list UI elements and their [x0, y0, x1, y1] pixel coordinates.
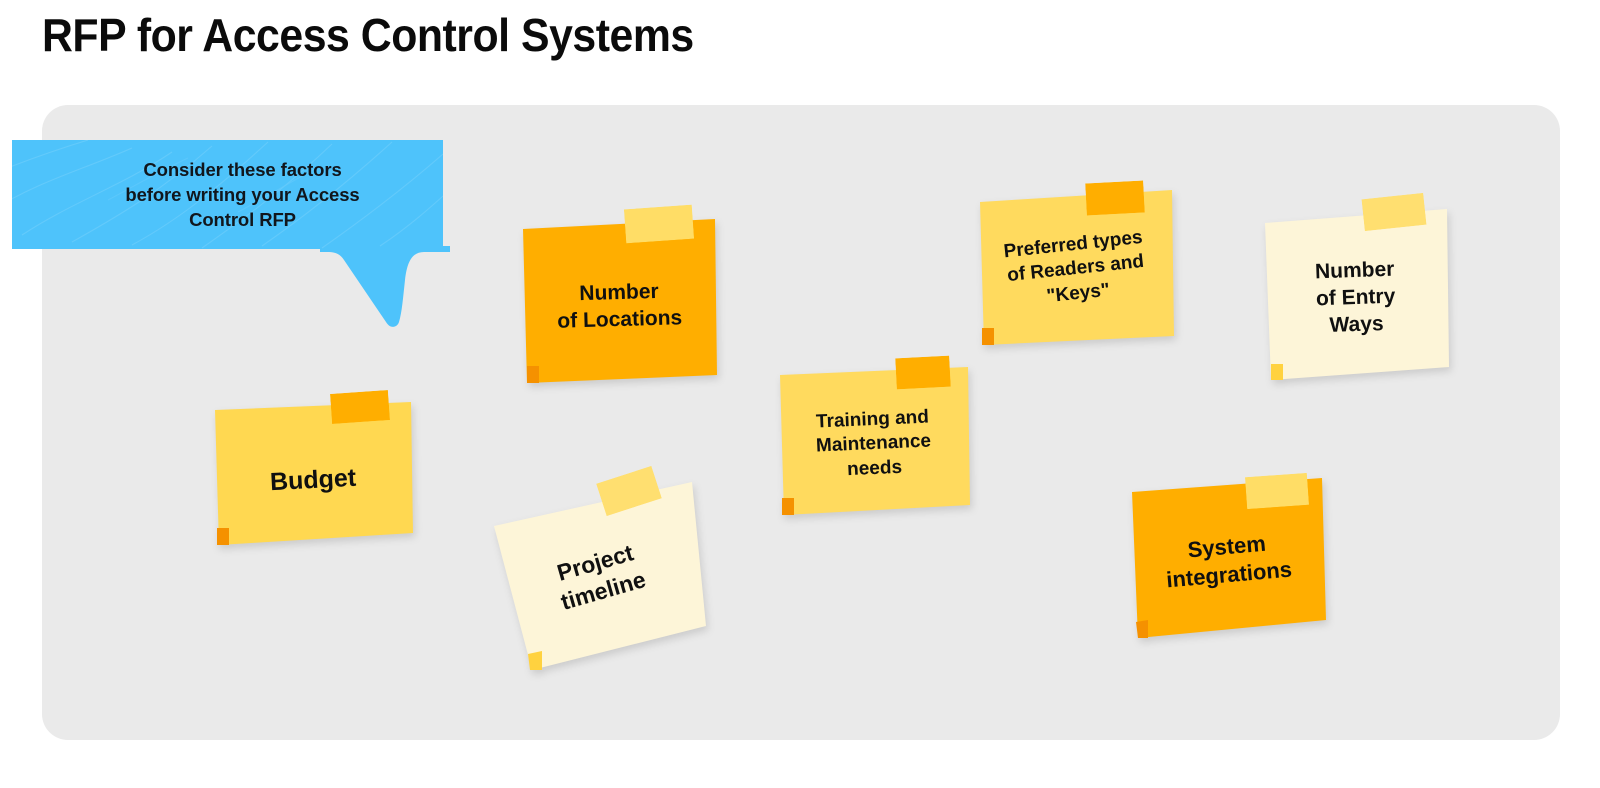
sticky-note-project-timeline[interactable]: Project timeline [492, 478, 706, 670]
tape-strip [330, 390, 390, 424]
note-label: Training and Maintenance needs [805, 405, 943, 484]
sticky-note-preferred-readers-keys[interactable]: Preferred types of Readers and "Keys" [978, 190, 1174, 345]
sticky-note-number-of-entry-ways[interactable]: Number of Entry Ways [1263, 207, 1449, 380]
note-label: Number of Entry Ways [1305, 256, 1407, 340]
callout-tail-icon [320, 246, 450, 328]
page-title: RFP for Access Control Systems [42, 8, 694, 62]
tape-strip [1361, 193, 1426, 231]
sticky-note-training-maintenance[interactable]: Training and Maintenance needs [778, 365, 970, 515]
note-label: Number of Locations [546, 278, 692, 336]
tape-strip [1245, 473, 1309, 509]
callout-text: Consider these factors before writing yo… [12, 140, 443, 232]
tape-strip [624, 205, 694, 244]
sticky-note-system-integrations[interactable]: System integrations [1130, 478, 1326, 638]
sticky-note-number-of-locations[interactable]: Number of Locations [521, 215, 717, 383]
callout-bubble: Consider these factors before writing yo… [12, 140, 443, 249]
sticky-note-budget[interactable]: Budget [213, 400, 413, 545]
tape-strip [1085, 181, 1145, 216]
tape-strip [895, 356, 951, 390]
note-label: Budget [259, 461, 367, 499]
